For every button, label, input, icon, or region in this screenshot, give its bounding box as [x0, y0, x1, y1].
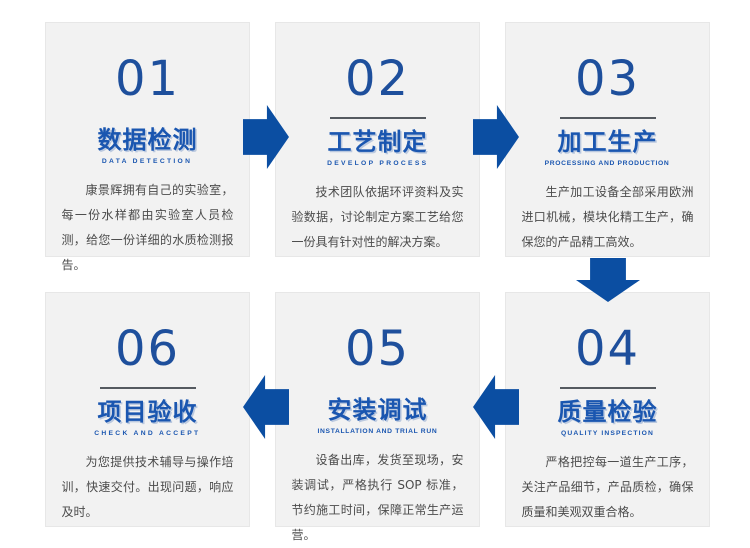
step-subtitle: CHECK AND ACCEPT — [94, 431, 200, 438]
step-description: 生产加工设备全部采用欧洲进口机械，模块化精工生产，确保您的产品精工高效。 — [522, 180, 694, 255]
step-description: 严格把控每一道生产工序，关注产品细节，产品质检，确保质量和美观双重合格。 — [522, 450, 694, 525]
step-title: 质量检验 — [558, 399, 658, 425]
divider-rule — [560, 117, 656, 119]
process-flow-diagram: 01 数据检测 DATA DETECTION 康景辉拥有自己的实验室，每一份水样… — [0, 0, 750, 539]
step-description: 技术团队依据环评资料及实验数据，讨论制定方案工艺给您一份具有针对性的解决方案。 — [292, 180, 464, 255]
step-subtitle: INSTALLATION AND TRIAL RUN — [318, 429, 438, 436]
divider-rule — [330, 117, 426, 119]
step-card-01: 01 数据检测 DATA DETECTION 康景辉拥有自己的实验室，每一份水样… — [45, 22, 250, 257]
step-card-03: 03 加工生产 PROCESSING AND PRODUCTION 生产加工设备… — [505, 22, 710, 257]
step-card-02: 02 工艺制定 DEVELOP PROCESS 技术团队依据环评资料及实验数据，… — [275, 22, 480, 257]
step-subtitle: DATA DETECTION — [102, 159, 192, 166]
divider-rule — [100, 387, 196, 389]
step-subtitle: QUALITY INSPECTION — [561, 431, 654, 438]
step-number: 04 — [575, 325, 640, 373]
divider-rule — [560, 387, 656, 389]
step-title: 工艺制定 — [328, 129, 428, 155]
step-description: 设备出库，发货至现场，安装调试，严格执行 SOP 标准，节约施工时间，保障正常生… — [292, 448, 464, 548]
step-number: 03 — [575, 55, 640, 103]
step-title: 安装调试 — [328, 397, 428, 423]
step-title: 数据检测 — [98, 127, 198, 153]
step-number: 01 — [115, 55, 180, 103]
step-card-04: 04 质量检验 QUALITY INSPECTION 严格把控每一道生产工序，关… — [505, 292, 710, 527]
step-subtitle: DEVELOP PROCESS — [327, 161, 428, 168]
step-number: 05 — [345, 325, 410, 373]
step-card-06: 06 项目验收 CHECK AND ACCEPT 为您提供技术辅导与操作培训，快… — [45, 292, 250, 527]
step-title: 加工生产 — [558, 129, 658, 155]
step-card-05: 05 安装调试 INSTALLATION AND TRIAL RUN 设备出库，… — [275, 292, 480, 527]
step-description: 康景辉拥有自己的实验室，每一份水样都由实验室人员检测，给您一份详细的水质检测报告… — [62, 178, 234, 278]
step-number: 02 — [345, 55, 410, 103]
step-subtitle: PROCESSING AND PRODUCTION — [545, 161, 670, 168]
step-title: 项目验收 — [98, 399, 198, 425]
step-number: 06 — [115, 325, 180, 373]
step-description: 为您提供技术辅导与操作培训，快速交付。出现问题，响应及时。 — [62, 450, 234, 525]
